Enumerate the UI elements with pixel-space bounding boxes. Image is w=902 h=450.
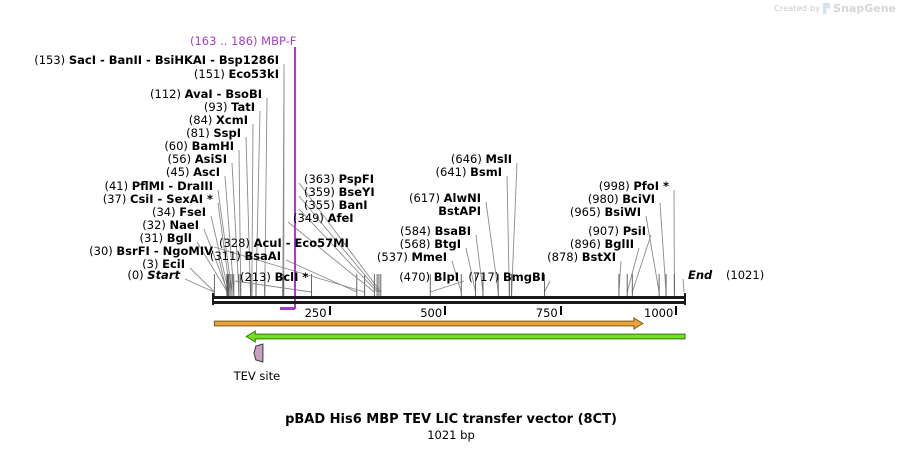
tev-site-label: TEV site bbox=[234, 369, 281, 383]
page-title: pBAD His6 MBP TEV LIC transfer vector (8… bbox=[285, 412, 617, 427]
feature-arrows bbox=[0, 0, 902, 450]
page-subtitle-length: 1021 bp bbox=[427, 428, 475, 442]
tev-site-marker[interactable] bbox=[254, 344, 263, 362]
green-feature-arrow[interactable] bbox=[246, 331, 685, 342]
orange-feature-arrow[interactable] bbox=[214, 318, 643, 329]
